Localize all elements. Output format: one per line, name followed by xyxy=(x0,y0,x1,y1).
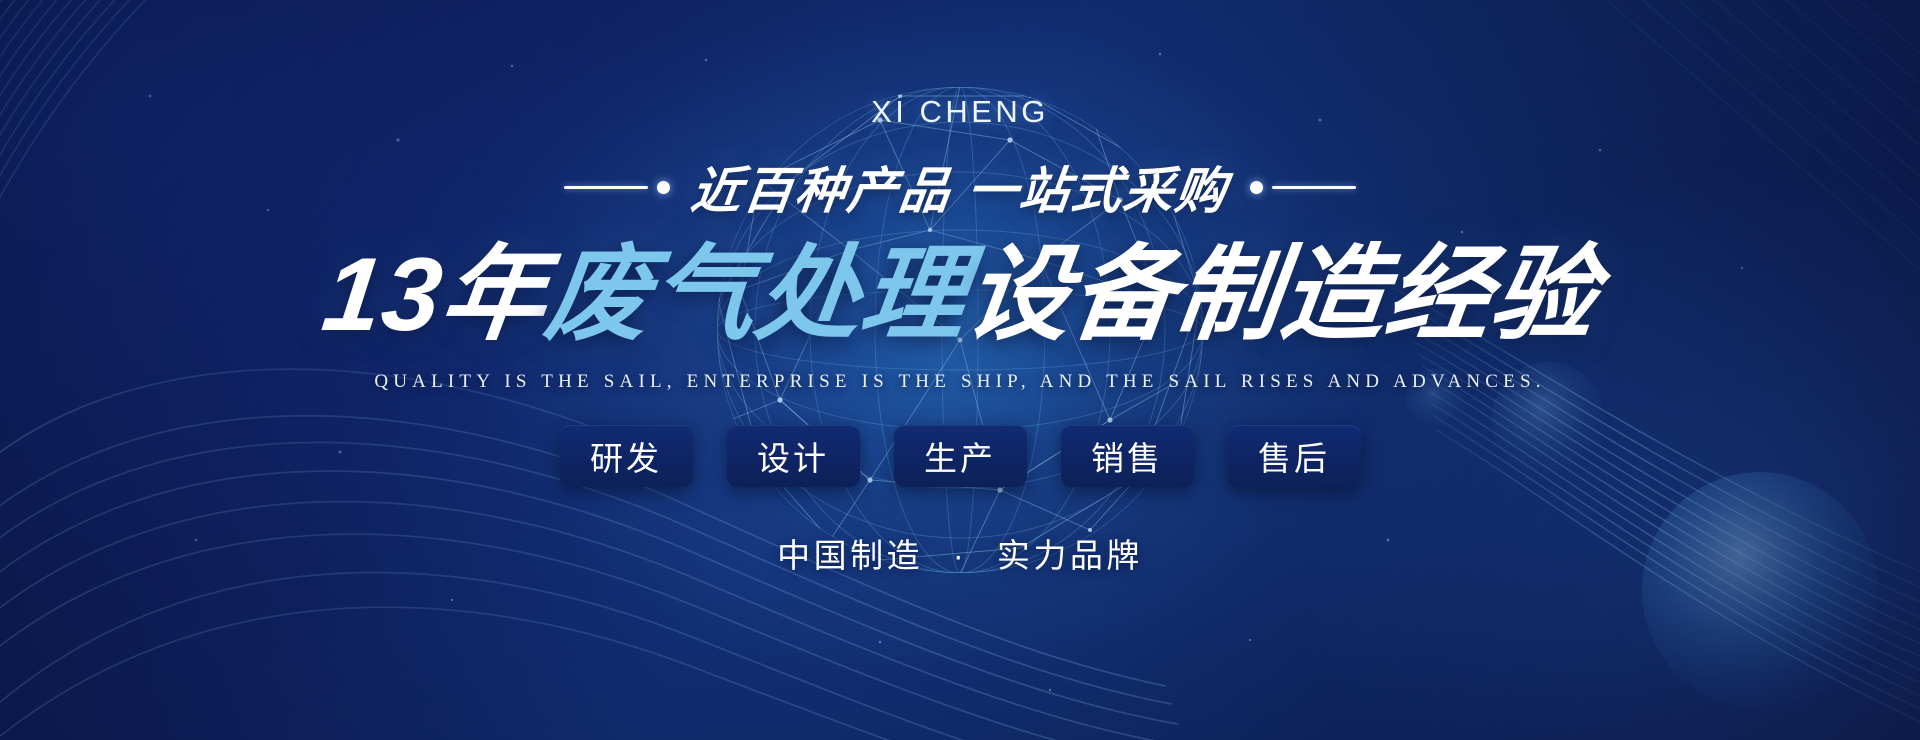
headline-accent: 废气处理 xyxy=(539,237,973,353)
footer-left-text: 中国制造 xyxy=(777,537,923,574)
banner-content: XI CHENG 近百种产品 一站式采购 13年废气处理设备制造经验 QUALI… xyxy=(0,0,1920,740)
decor-bar-right xyxy=(1272,186,1356,189)
decor-bar-left xyxy=(564,186,648,189)
brand-name-en: XI CHENG xyxy=(871,94,1049,130)
decor-rule-right xyxy=(1250,181,1356,194)
headline-lead: 13年 xyxy=(317,237,554,353)
service-tag-rd[interactable]: 研发 xyxy=(560,425,693,487)
service-tag-list: 研发 设计 生产 销售 售后 xyxy=(560,425,1361,487)
banner-tagline-en: QUALITY IS THE SAIL, ENTERPRISE IS THE S… xyxy=(374,371,1545,393)
service-tag-design[interactable]: 设计 xyxy=(727,425,860,487)
banner-subtitle: 近百种产品 一站式采购 xyxy=(688,151,1233,223)
hero-banner: XI CHENG 近百种产品 一站式采购 13年废气处理设备制造经验 QUALI… xyxy=(0,0,1920,740)
decor-rule-left xyxy=(564,181,670,194)
footer-separator-dot: · xyxy=(953,537,968,574)
service-tag-production[interactable]: 生产 xyxy=(894,425,1027,487)
subtitle-row: 近百种产品 一站式采购 xyxy=(564,151,1356,223)
banner-headline: 13年废气处理设备制造经验 xyxy=(316,237,1603,353)
service-tag-sales[interactable]: 销售 xyxy=(1061,425,1194,487)
decor-dot-right xyxy=(1250,181,1263,194)
footer-right-text: 实力品牌 xyxy=(997,537,1143,574)
headline-trail: 设备制造经验 xyxy=(959,237,1603,353)
service-tag-aftersale[interactable]: 售后 xyxy=(1228,425,1361,487)
banner-footer-line: 中国制造 · 实力品牌 xyxy=(777,529,1143,577)
decor-dot-left xyxy=(657,181,670,194)
